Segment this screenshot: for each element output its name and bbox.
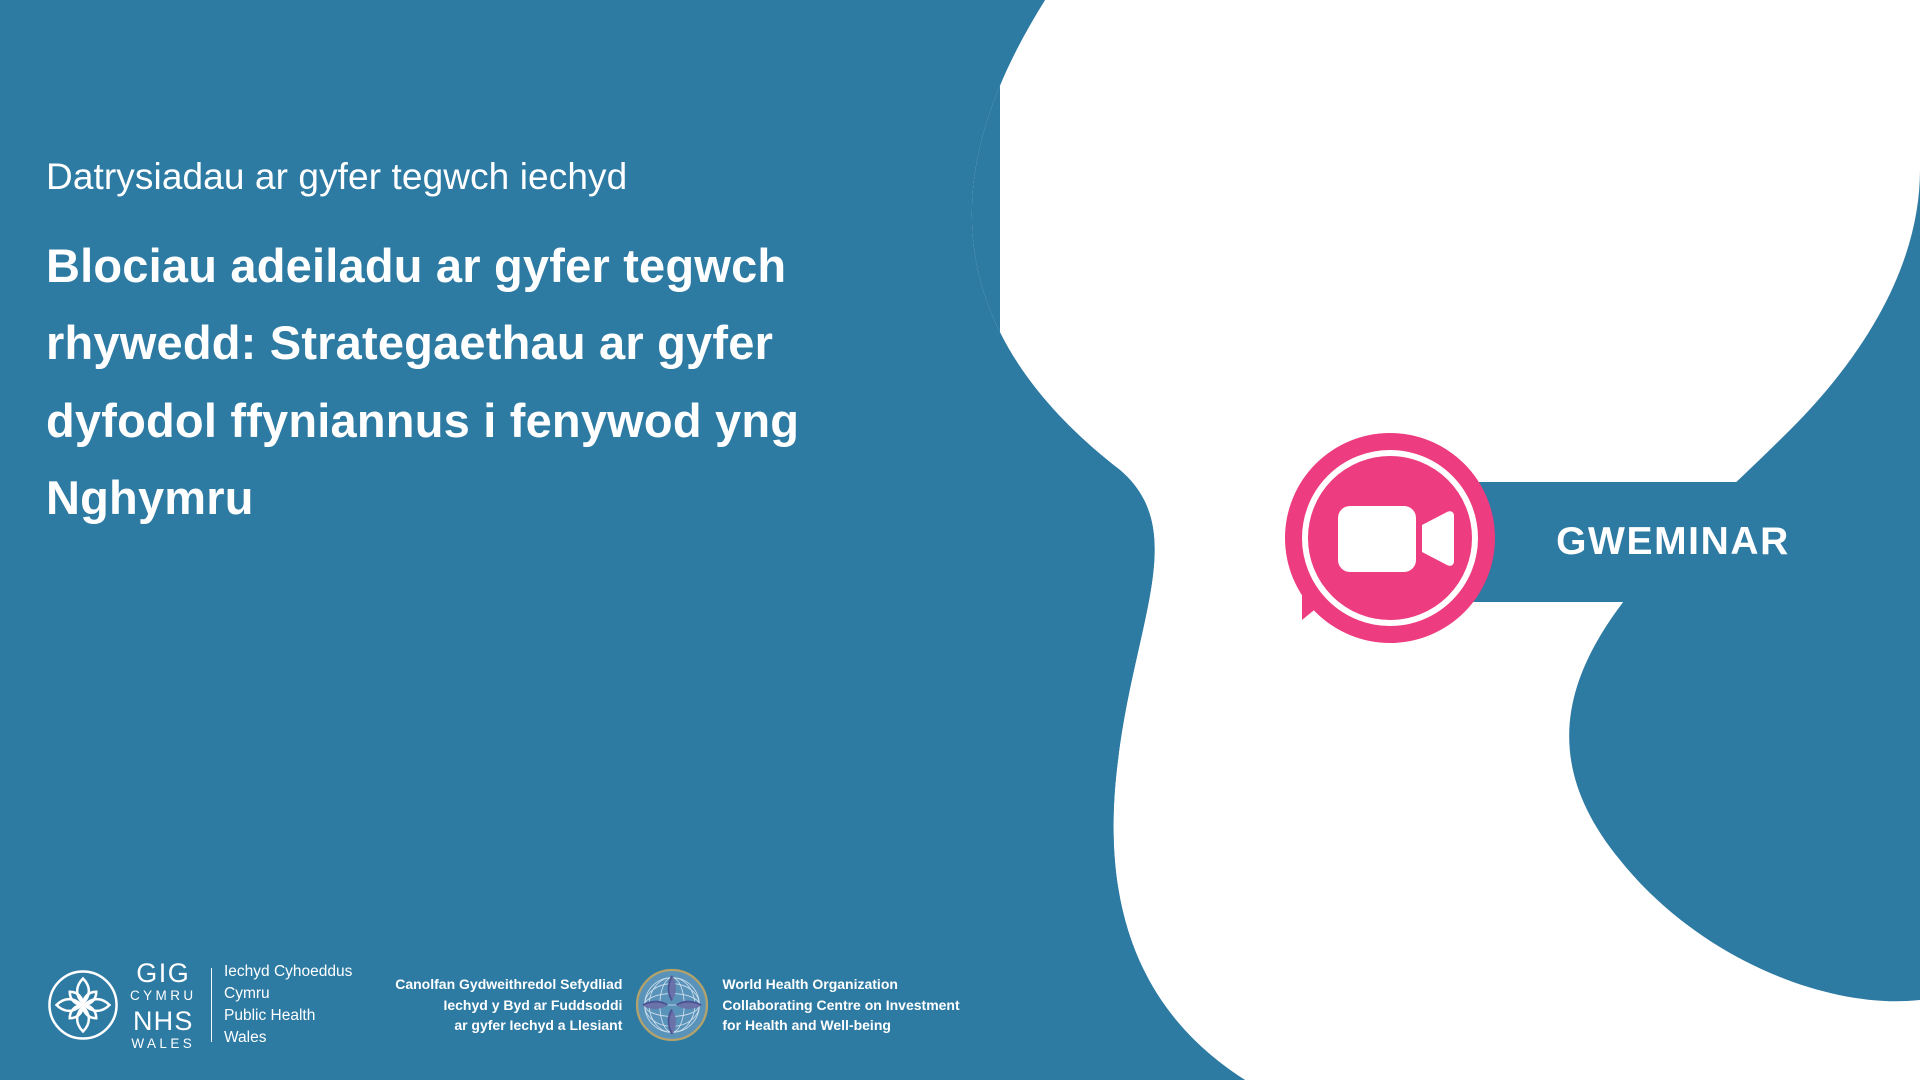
who-welsh-line1: Canolfan Gydweithredol Sefydliad (390, 974, 622, 995)
cymru-word: CYMRU (130, 989, 197, 1003)
phw-name-english-line1: Public Health (224, 1005, 352, 1027)
who-name-welsh: Canolfan Gydweithredol Sefydliad Iechyd … (390, 974, 622, 1036)
webinar-label: GWEMINAR (1498, 520, 1790, 564)
public-health-wales-name: Iechyd Cyhoeddus Cymru Public Health Wal… (224, 961, 352, 1049)
phw-name-english-line2: Wales (224, 1027, 352, 1049)
who-collaborating-centre-logo: Canolfan Gydweithredol Sefydliad Iechyd … (390, 967, 972, 1043)
wales-word: WALES (131, 1037, 195, 1051)
page-title: Blociau adeiladu ar gyfer tegwch rhywedd… (46, 227, 856, 535)
phw-name-welsh-line1: Iechyd Cyhoeddus (224, 961, 352, 983)
who-name-english: World Health Organization Collaborating … (722, 974, 972, 1036)
celtic-knot-icon (44, 966, 122, 1044)
phw-name-welsh-line2: Cymru (224, 983, 352, 1005)
webinar-promo-slide: Datrysiadau ar gyfer tegwch iechyd Bloci… (0, 0, 1920, 1080)
nhs-wales-wordmark: GIG CYMRU NHS WALES (130, 960, 197, 1050)
who-welsh-line3: ar gyfer Iechyd a Llesiant (390, 1015, 622, 1036)
webinar-badge: GWEMINAR (1240, 388, 1840, 688)
text-column: Datrysiadau ar gyfer tegwch iechyd Bloci… (46, 155, 886, 536)
who-welsh-line2: Iechyd y Byd ar Fuddsoddi (390, 995, 622, 1016)
public-health-wales-logo: GIG CYMRU NHS WALES Iechyd Cyhoeddus Cym… (44, 960, 352, 1050)
footer-logo-bar: GIG CYMRU NHS WALES Iechyd Cyhoeddus Cym… (0, 930, 1100, 1080)
logo-divider (211, 968, 213, 1042)
gig-word: GIG (136, 960, 190, 987)
who-english-line1: World Health Organization (722, 974, 972, 995)
who-english-line3: for Health and Well-being (722, 1015, 972, 1036)
nhs-word: NHS (133, 1008, 194, 1035)
who-collaborating-centre-globe-icon (634, 967, 710, 1043)
who-english-line2: Collaborating Centre on Investment (722, 995, 972, 1016)
eyebrow-text: Datrysiadau ar gyfer tegwch iechyd (46, 155, 886, 199)
video-camera-speech-bubble-icon (1240, 388, 1540, 688)
